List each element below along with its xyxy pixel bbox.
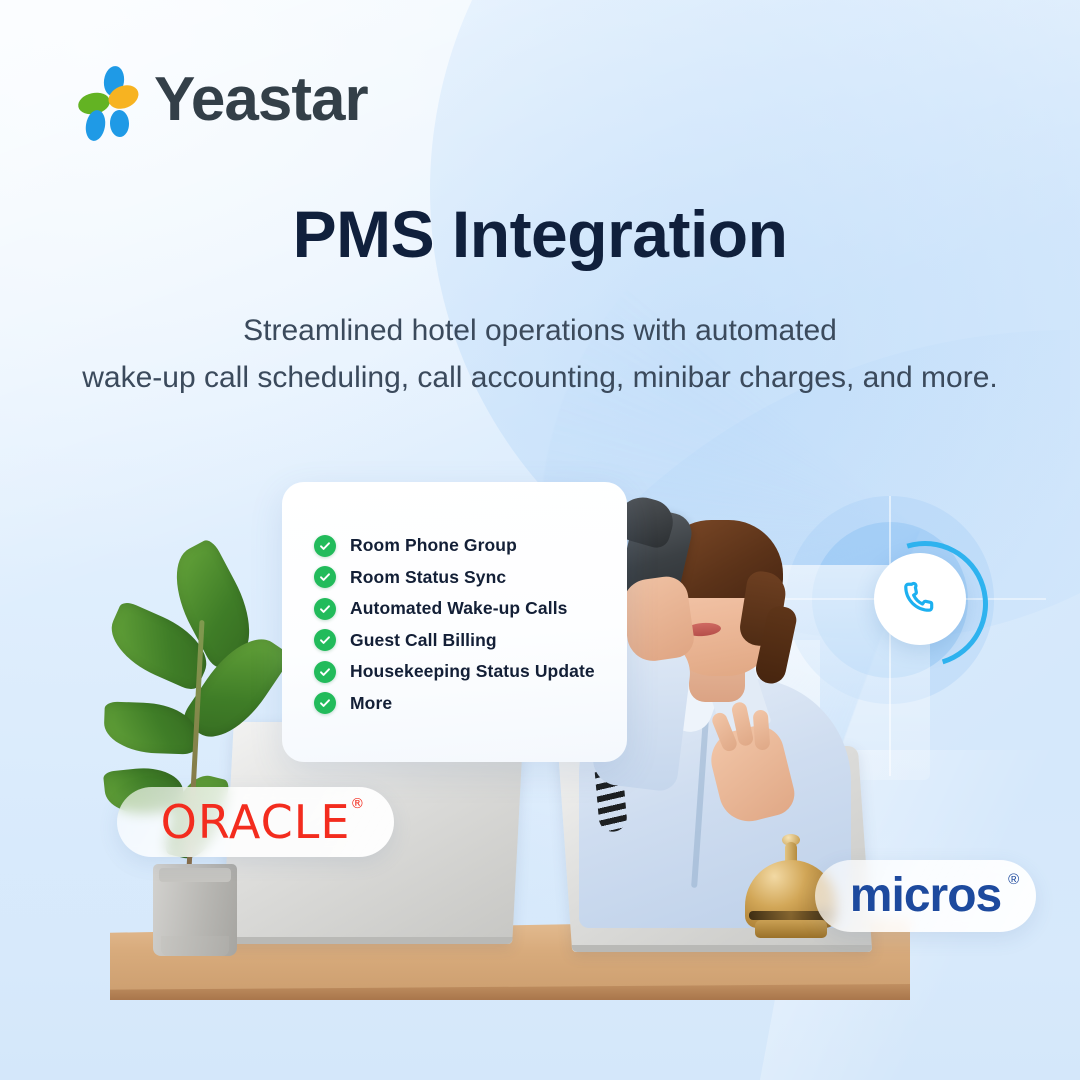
list-item: Automated Wake-up Calls — [314, 593, 613, 625]
check-circle-icon — [314, 661, 336, 683]
potted-plant — [115, 536, 295, 956]
feature-label: Housekeeping Status Update — [350, 661, 595, 682]
list-item: More — [314, 688, 613, 720]
feature-list-card: Room Phone Group Room Status Sync Automa… — [282, 482, 627, 762]
page-title: PMS Integration — [0, 196, 1080, 272]
feature-label: Automated Wake-up Calls — [350, 598, 568, 619]
list-item: Guest Call Billing — [314, 625, 613, 657]
micros-trademark: ® — [1008, 872, 1018, 887]
feature-label: Room Phone Group — [350, 535, 517, 556]
promo-graphic: Yeastar PMS Integration Streamlined hote… — [0, 0, 1080, 1080]
partner-badge-micros[interactable]: micros® — [815, 860, 1036, 932]
subtitle-line-1: Streamlined hotel operations with automa… — [243, 314, 837, 347]
oracle-trademark: ® — [350, 797, 365, 811]
yeastar-petal-mark-icon — [78, 66, 140, 134]
feature-label: Guest Call Billing — [350, 630, 497, 651]
check-circle-icon — [314, 629, 336, 651]
subtitle-line-2: wake-up call scheduling, call accounting… — [0, 355, 1080, 402]
list-item: Room Phone Group — [314, 530, 613, 562]
yeastar-logo[interactable]: Yeastar — [78, 66, 368, 134]
oracle-label: ORACLE — [161, 795, 351, 849]
check-circle-icon — [314, 535, 336, 557]
feature-list: Room Phone Group Room Status Sync Automa… — [314, 530, 613, 719]
feature-label: Room Status Sync — [350, 567, 506, 588]
list-item: Housekeeping Status Update — [314, 656, 613, 688]
micros-wordmark: micros® — [850, 872, 1001, 920]
micros-label: micros — [850, 869, 1001, 922]
check-circle-icon — [314, 692, 336, 714]
check-circle-icon — [314, 566, 336, 588]
list-item: Room Status Sync — [314, 562, 613, 594]
phone-badge — [874, 553, 966, 645]
partner-badge-oracle[interactable]: ORACLE® — [117, 787, 394, 857]
oracle-wordmark: ORACLE® — [161, 799, 351, 845]
feature-label: More — [350, 693, 392, 714]
check-circle-icon — [314, 598, 336, 620]
brand-wordmark: Yeastar — [154, 69, 368, 131]
page-subtitle: Streamlined hotel operations with automa… — [0, 308, 1080, 401]
phone-handset-icon — [902, 579, 938, 620]
